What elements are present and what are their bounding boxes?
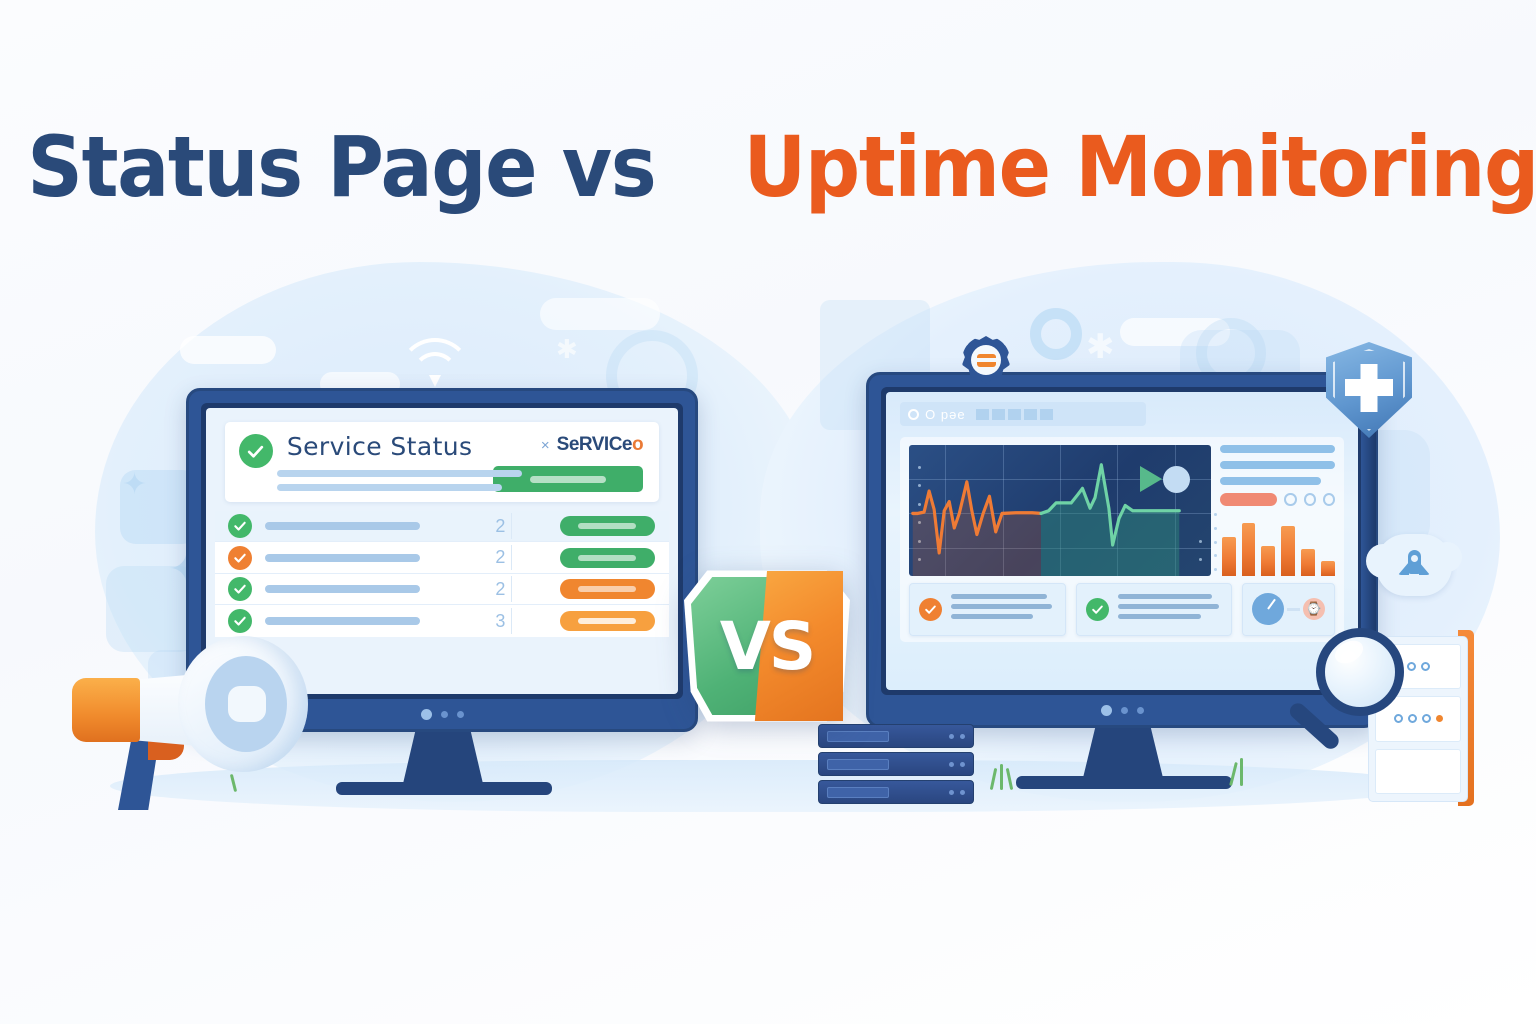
gear-badge bbox=[962, 336, 1010, 384]
text-line bbox=[277, 484, 502, 491]
service-brand-text: SeRVICeo bbox=[557, 434, 643, 456]
row-label-placeholder bbox=[265, 585, 420, 593]
settings-glyph-icon bbox=[977, 354, 996, 367]
sparkle-decoration: ✱ bbox=[1086, 330, 1115, 364]
status-badge-label bbox=[578, 555, 636, 561]
text-line bbox=[951, 604, 1052, 609]
gear-decoration-background bbox=[1030, 308, 1082, 360]
monitor-stand-neck-left bbox=[402, 732, 484, 788]
status-led bbox=[1121, 707, 1128, 714]
text-line bbox=[1118, 594, 1212, 599]
server-led bbox=[960, 762, 965, 767]
bar-chart-ticks bbox=[1214, 508, 1217, 576]
gear-badge-inner bbox=[971, 345, 1001, 375]
row-label-placeholder bbox=[265, 617, 420, 625]
card-text-lines bbox=[1118, 594, 1222, 624]
bar bbox=[1222, 537, 1236, 577]
shield-cross-icon bbox=[1326, 342, 1412, 438]
dashboard-side-panel bbox=[1220, 445, 1335, 577]
connector-line bbox=[1287, 608, 1300, 611]
status-led bbox=[1137, 707, 1144, 714]
server-unit bbox=[818, 780, 974, 804]
close-icon: × bbox=[541, 437, 550, 454]
indicator-ring-icon bbox=[1422, 714, 1431, 723]
check-circle-icon bbox=[239, 434, 273, 468]
service-status-header-card: Service Status × SeRVICeo bbox=[225, 422, 659, 502]
bar bbox=[1242, 523, 1256, 576]
server-led bbox=[949, 734, 954, 739]
rocket-icon bbox=[1397, 548, 1431, 582]
star-decoration-2: ✦ bbox=[122, 470, 147, 500]
service-status-description bbox=[277, 470, 522, 498]
check-circle-icon bbox=[919, 598, 942, 621]
server-drive-bay bbox=[827, 787, 889, 798]
gauge-icon bbox=[1252, 593, 1284, 625]
table-row[interactable]: 2 bbox=[215, 574, 668, 605]
status-led bbox=[441, 711, 448, 718]
status-badge-label bbox=[578, 523, 636, 529]
status-card[interactable] bbox=[1076, 583, 1232, 636]
row-count: 2 bbox=[495, 516, 505, 537]
uptime-dashboard-screen[interactable]: O pǝe bbox=[886, 392, 1358, 690]
column-divider bbox=[511, 513, 512, 539]
megaphone-band bbox=[72, 678, 140, 742]
server-led bbox=[960, 734, 965, 739]
chart-series-svg bbox=[909, 445, 1211, 577]
megaphone-icon bbox=[60, 630, 330, 810]
server-stack-icon bbox=[818, 724, 974, 808]
server-drive-bay bbox=[827, 759, 889, 770]
alert-pill bbox=[1220, 493, 1278, 506]
subscribe-button-label bbox=[530, 476, 606, 483]
text-line bbox=[1118, 614, 1202, 619]
grass-decoration bbox=[1000, 764, 1003, 790]
text-line bbox=[1220, 477, 1322, 485]
check-circle-icon bbox=[228, 514, 252, 538]
status-badge bbox=[560, 611, 655, 631]
service-status-title: Service Status bbox=[287, 432, 473, 461]
status-badge bbox=[560, 516, 655, 536]
play-triangle-icon bbox=[1140, 466, 1162, 492]
bar bbox=[1261, 546, 1275, 576]
power-indicator bbox=[421, 709, 432, 720]
dashboard-status-cards: ⌚ bbox=[909, 583, 1335, 636]
table-row[interactable]: 2 bbox=[215, 542, 668, 573]
row-label-placeholder bbox=[265, 554, 420, 562]
uptime-line-chart bbox=[909, 445, 1211, 577]
status-dot bbox=[1436, 715, 1443, 722]
vs-badge: VS bbox=[684, 564, 850, 728]
browser-favicon-icon bbox=[908, 409, 919, 420]
service-brand-logo: × SeRVICeo bbox=[541, 434, 643, 456]
megaphone-cone-core bbox=[228, 686, 266, 722]
row-count: 3 bbox=[495, 611, 505, 632]
status-led bbox=[457, 711, 464, 718]
page-title: Status Page vs Uptime Monitoring bbox=[0, 118, 1536, 216]
bar-chart bbox=[1220, 508, 1335, 576]
page-title-left: Status Page vs bbox=[27, 118, 655, 216]
check-circle-icon bbox=[1086, 598, 1109, 621]
row-label-placeholder bbox=[265, 522, 420, 530]
cloud-decoration-2 bbox=[540, 298, 660, 330]
text-line bbox=[1220, 461, 1335, 469]
server-led bbox=[949, 762, 954, 767]
text-line bbox=[1118, 604, 1219, 609]
column-divider bbox=[511, 545, 512, 571]
monitor-stand-base-right bbox=[1016, 776, 1232, 789]
power-indicator bbox=[1101, 705, 1112, 716]
magnifier-lens bbox=[1316, 628, 1404, 716]
status-badge-label bbox=[578, 618, 636, 624]
table-row[interactable]: 2 bbox=[215, 511, 668, 542]
magnifier-icon bbox=[1290, 626, 1410, 756]
vs-badge-label: VS bbox=[684, 564, 850, 728]
text-line bbox=[951, 614, 1032, 619]
status-badge-label bbox=[578, 586, 636, 592]
monitor-stand-base-left bbox=[336, 782, 552, 795]
illustration-canvas: ✦ ✦ ✱ ✱ Status Page vs Uptime Monitoring bbox=[0, 0, 1536, 1024]
status-ring-icon bbox=[1284, 493, 1296, 506]
bar bbox=[1321, 561, 1335, 576]
alert-badge-icon: ⌚ bbox=[1303, 598, 1325, 620]
text-line bbox=[277, 470, 522, 477]
status-badge bbox=[560, 579, 655, 599]
server-led bbox=[949, 790, 954, 795]
row-count: 2 bbox=[495, 579, 505, 600]
column-divider bbox=[511, 608, 512, 634]
server-led bbox=[960, 790, 965, 795]
indicator-circle bbox=[1163, 466, 1190, 493]
cloud-bubble bbox=[1376, 534, 1452, 596]
alert-indicator-row bbox=[1220, 493, 1335, 506]
check-circle-icon bbox=[228, 546, 252, 570]
text-line bbox=[1220, 445, 1335, 453]
dashboard-body: ⌚ bbox=[900, 437, 1344, 643]
page-title-right: Uptime Monitoring bbox=[744, 118, 1536, 216]
url-placeholder-blocks bbox=[976, 409, 1053, 420]
service-brand-text-b: o bbox=[632, 434, 643, 455]
sparkle-decoration-2: ✱ bbox=[556, 336, 578, 362]
browser-url-bar[interactable]: O pǝe bbox=[900, 402, 1145, 426]
column-divider bbox=[511, 576, 512, 602]
status-card[interactable] bbox=[909, 583, 1065, 636]
shield-pole bbox=[1361, 420, 1376, 650]
text-line bbox=[951, 594, 1047, 599]
service-brand-text-a: SeRVICe bbox=[557, 434, 632, 455]
grass-decoration bbox=[1240, 758, 1243, 786]
monitor-stand-neck-right bbox=[1082, 728, 1164, 782]
cross-horizontal bbox=[1345, 379, 1393, 396]
server-drive-bay bbox=[827, 731, 889, 742]
indicator-ring-icon bbox=[1421, 662, 1430, 671]
status-ring-icon bbox=[1304, 493, 1316, 506]
bar bbox=[1281, 526, 1295, 577]
check-circle-icon bbox=[228, 577, 252, 601]
url-text: O pǝe bbox=[925, 407, 965, 422]
rocket-body bbox=[1408, 550, 1421, 574]
server-unit bbox=[818, 752, 974, 776]
status-ring-icon bbox=[1323, 493, 1335, 506]
bar bbox=[1301, 549, 1315, 576]
cloud-decoration-1 bbox=[180, 336, 276, 364]
status-badge bbox=[560, 548, 655, 568]
row-count: 2 bbox=[495, 547, 505, 568]
card-text-lines bbox=[951, 594, 1055, 624]
rocket-window bbox=[1411, 555, 1418, 562]
